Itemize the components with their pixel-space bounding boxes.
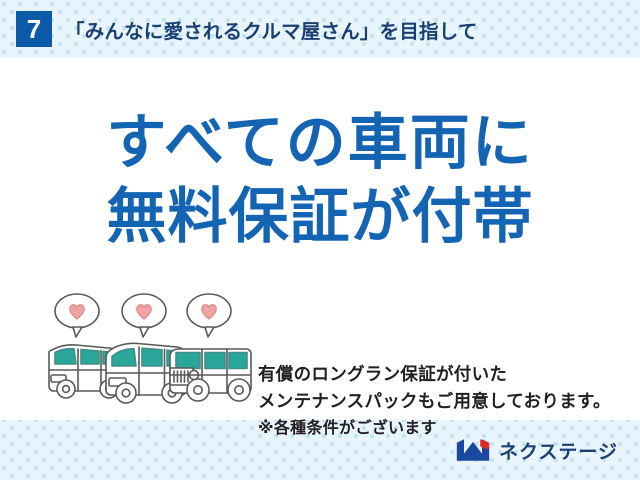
section-number-badge: 7	[16, 11, 52, 47]
content-panel: すべての車両に 無料保証が付帯	[0, 58, 640, 420]
promo-banner: 7 「みんなに愛されるクルマ屋さん」を目指して すべての車両に 無料保証が付帯	[0, 0, 640, 480]
brand-logo: ネクステージ	[455, 437, 618, 464]
nextstage-n-mark-icon	[455, 437, 491, 463]
heart-bubble-1	[55, 294, 99, 337]
headline: すべての車両に 無料保証が付帯	[0, 106, 640, 254]
body-line-1: 有償のロングラン保証が付いた	[258, 362, 611, 389]
car-illustration	[46, 290, 256, 408]
lower-content: 有償のロングラン保証が付いた メンテナンスパックもご用意しております。 ※各種条…	[0, 290, 640, 410]
headline-line-1: すべての車両に	[0, 106, 640, 180]
banner-header: 7 「みんなに愛されるクルマ屋さん」を目指して	[0, 0, 640, 58]
header-title: 「みんなに愛されるクルマ屋さん」を目指して	[65, 15, 478, 44]
banner-footer: ネクステージ	[0, 420, 640, 480]
headline-line-2: 無料保証が付帯	[0, 180, 640, 254]
heart-bubble-3	[187, 294, 231, 337]
heart-bubble-2	[122, 294, 166, 337]
cars-and-hearts-svg	[46, 290, 256, 408]
body-line-2: メンテナンスパックもご用意しております。	[258, 389, 611, 416]
brand-name: ネクステージ	[499, 437, 618, 464]
car-suv-wrangler	[170, 349, 251, 401]
